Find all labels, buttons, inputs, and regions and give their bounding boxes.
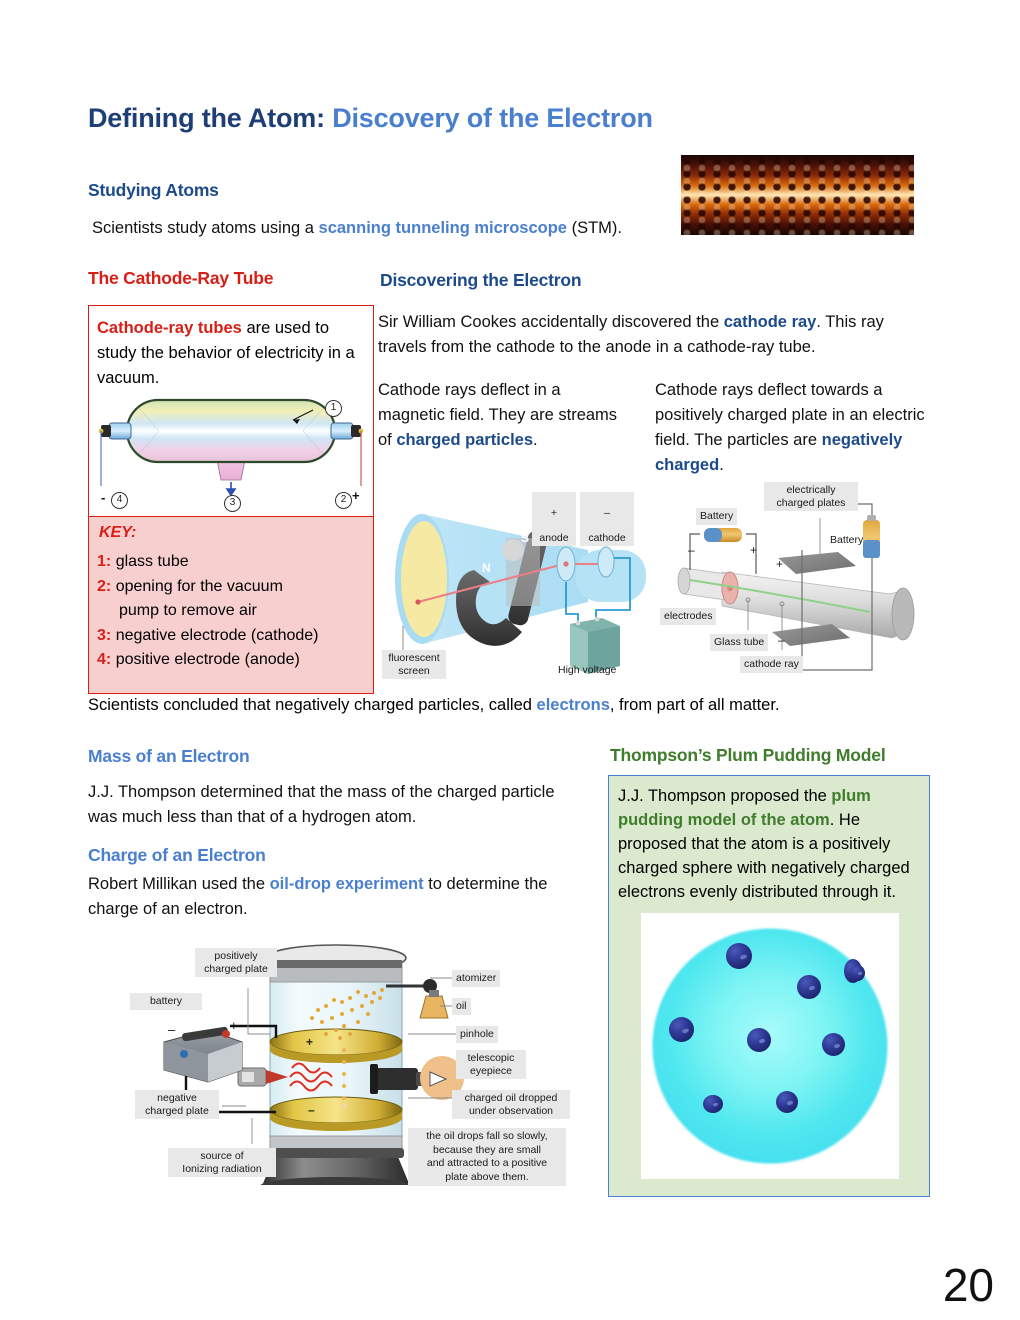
tube-marker-1: 1 xyxy=(325,400,342,417)
svg-text:+: + xyxy=(306,1035,313,1049)
paragraph-charge-of-an-electron: Robert Millikan used the oil-drop experi… xyxy=(88,872,568,922)
key-item-label: positive electrode (anode) xyxy=(116,651,300,668)
studying-text-b: (STM). xyxy=(567,219,622,237)
paragraph-conclusion: Scientists concluded that negatively cha… xyxy=(88,696,928,715)
label-positively-charged-plate: positively charged plate xyxy=(195,948,277,977)
electron-particle xyxy=(669,1017,694,1042)
electron-particle xyxy=(776,1091,798,1113)
paragraph-studying-atoms: Scientists study atoms using a scanning … xyxy=(92,216,692,241)
label-oil: oil xyxy=(452,998,471,1015)
keyword-oil-drop-experiment: oil-drop experiment xyxy=(270,875,424,893)
key-item: 1: glass tube xyxy=(97,550,365,575)
paragraph-electric-deflection: Cathode rays deflect towards a positivel… xyxy=(655,378,930,478)
label-atomizer: atomizer xyxy=(452,970,500,987)
svg-text:+: + xyxy=(750,543,757,557)
plum-text-a: J.J. Thompson proposed the xyxy=(618,787,831,805)
tube-marker-4: 4 xyxy=(111,492,128,509)
svg-text:–: – xyxy=(778,633,785,647)
section-heading-cathode-ray-tube: The Cathode-Ray Tube xyxy=(88,268,273,289)
label-telescopic-eyepiece: telescopic eyepiece xyxy=(456,1050,526,1079)
conclusion-text-a: Scientists concluded that negatively cha… xyxy=(88,696,537,714)
cathode-sign: – xyxy=(604,507,610,519)
stm-image xyxy=(681,155,914,235)
svg-text:N: N xyxy=(482,561,491,575)
magnetic-deflection-diagram: N S fluorescent screen + anode – cathode… xyxy=(378,492,650,678)
label-fluorescent-screen: fluorescent screen xyxy=(382,650,446,679)
key-title: KEY: xyxy=(99,524,136,542)
label-glass-tube: Glass tube xyxy=(710,634,768,651)
page-title-main: Defining the Atom: xyxy=(88,103,325,133)
key-item-label: glass tube xyxy=(116,553,189,570)
key-item-label: negative electrode (cathode) xyxy=(116,627,319,644)
electric-field-diagram: – + + – electrically charged plates Batt… xyxy=(660,482,935,678)
tube-sign-minus: - xyxy=(101,490,105,505)
electron-particle xyxy=(747,1028,771,1052)
section-heading-mass-of-an-electron: Mass of an Electron xyxy=(88,746,250,767)
label-battery-right: Battery xyxy=(826,532,867,549)
page-title-sub: Discovery of the Electron xyxy=(332,103,653,133)
key-item: 4: positive electrode (anode) xyxy=(97,648,365,673)
label-cathode: – cathode xyxy=(580,492,634,546)
electron-particle xyxy=(703,1095,723,1113)
plum-pudding-illustration xyxy=(641,913,899,1179)
cathode-ray-tube-panel: Cathode-ray tubes are used to study the … xyxy=(88,305,374,694)
section-heading-plum-pudding-model: Thompson’s Plum Pudding Model xyxy=(610,745,885,766)
conclusion-text-b: , from part of all matter. xyxy=(610,696,780,714)
key-item-label-cont: pump to remove air xyxy=(97,599,365,624)
electron-particle xyxy=(822,1033,845,1056)
millikan-oil-drop-diagram: + – xyxy=(130,930,570,1185)
label-negative-charged-plate: negative charged plate xyxy=(135,1090,219,1119)
section-heading-studying-atoms: Studying Atoms xyxy=(88,180,219,201)
tube-marker-3: 3 xyxy=(224,495,241,512)
paragraph-magnetic-deflection: Cathode rays deflect in a magnetic field… xyxy=(378,378,623,453)
section-heading-charge-of-an-electron: Charge of an Electron xyxy=(88,845,266,866)
page-title: Defining the Atom: Discovery of the Elec… xyxy=(88,103,653,134)
tube-marker-2: 2 xyxy=(335,492,352,509)
key-legend-panel: KEY: 1: glass tube 2: opening for the va… xyxy=(89,516,373,693)
svg-text:+: + xyxy=(776,557,783,571)
label-cathode-ray: cathode ray xyxy=(740,656,803,673)
paragraph-discovering-intro: Sir William Cookes accidentally discover… xyxy=(378,310,923,360)
label-battery: battery xyxy=(130,993,202,1010)
key-item-list: 1: glass tube 2: opening for the vacuum … xyxy=(97,550,365,673)
paragraph-cathode-ray-tube: Cathode-ray tubes are used to study the … xyxy=(97,316,359,391)
electron-particle xyxy=(726,943,752,969)
stm-lattice-light xyxy=(681,162,914,236)
keyword-charged-particles: charged particles xyxy=(396,431,533,449)
key-item-label: opening for the vacuum xyxy=(116,578,283,595)
cathode-text: cathode xyxy=(588,532,625,544)
paragraph-plum-pudding: J.J. Thompson proposed the plum pudding … xyxy=(618,784,920,904)
label-electrically-charged-plates: electrically charged plates xyxy=(764,482,858,511)
label-battery-left: Battery xyxy=(696,508,737,525)
studying-text-a: Scientists study atoms using a xyxy=(92,219,319,237)
keyword-cathode-ray-tubes: Cathode-ray tubes xyxy=(97,319,242,337)
key-item-number: 4: xyxy=(97,651,111,668)
svg-text:S: S xyxy=(521,531,529,545)
anode-sign: + xyxy=(551,507,557,519)
section-heading-discovering-the-electron: Discovering the Electron xyxy=(380,270,581,291)
svg-text:–: – xyxy=(308,1103,315,1117)
elec-text-b: . xyxy=(719,456,724,474)
electron-particle xyxy=(851,965,865,981)
tube-sign-plus: + xyxy=(352,488,360,503)
keyword-electrons: electrons xyxy=(537,696,610,714)
mag-text-b: . xyxy=(533,431,538,449)
svg-text:–: – xyxy=(168,1022,176,1037)
label-pinhole: pinhole xyxy=(456,1026,498,1043)
label-high-voltage: High voltage xyxy=(554,662,620,679)
disc-intro-a: Sir William Cookes accidentally discover… xyxy=(378,313,724,331)
label-electrodes: electrodes xyxy=(660,608,716,625)
label-charged-oil-dropped: charged oil dropped under observation xyxy=(452,1090,570,1119)
label-source-of-ionizing-radiation: source of Ionizing radiation xyxy=(168,1148,276,1177)
charge-text-a: Robert Millikan used the xyxy=(88,875,270,893)
worksheet-page: Defining the Atom: Discovery of the Elec… xyxy=(0,0,1020,1320)
key-item-number: 2: xyxy=(97,578,111,595)
paragraph-mass-of-an-electron: J.J. Thompson determined that the mass o… xyxy=(88,780,558,830)
key-item-number: 3: xyxy=(97,627,111,644)
label-anode: + anode xyxy=(532,492,576,546)
keyword-cathode-ray: cathode ray xyxy=(724,313,817,331)
key-item: 2: opening for the vacuum pump to remove… xyxy=(97,575,365,624)
keyword-scanning-tunneling-microscope: scanning tunneling microscope xyxy=(319,219,567,237)
electron-particle xyxy=(797,975,821,999)
anode-text: anode xyxy=(539,532,568,544)
plum-pudding-panel: J.J. Thompson proposed the plum pudding … xyxy=(608,775,930,1197)
svg-text:–: – xyxy=(688,543,695,557)
key-item-number: 1: xyxy=(97,553,111,570)
label-oil-drop-caption: the oil drops fall so slowly, because th… xyxy=(408,1128,566,1186)
cathode-ray-tube-diagram: 1 2 3 4 - + xyxy=(97,394,365,512)
page-number: 20 xyxy=(943,1258,994,1312)
key-item: 3: negative electrode (cathode) xyxy=(97,624,365,649)
